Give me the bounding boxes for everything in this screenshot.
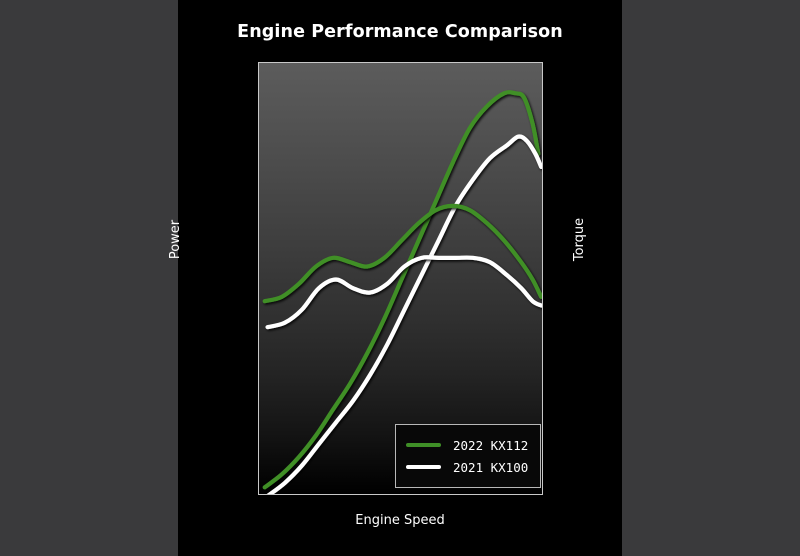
figure-panel: Engine Performance Comparison Power Torq… — [178, 0, 622, 556]
legend-swatch-green — [406, 443, 441, 447]
series-line — [265, 206, 541, 301]
y-axis-label-right: Torque — [572, 218, 587, 261]
series-line — [268, 257, 542, 327]
chart-page: Engine Performance Comparison Power Torq… — [0, 0, 800, 556]
y-axis-label-left: Power — [168, 220, 183, 259]
legend-item: 2022 KX112 — [406, 434, 530, 456]
legend-label: 2021 KX100 — [453, 460, 528, 475]
x-axis-label: Engine Speed — [178, 513, 622, 528]
legend-swatch-white — [406, 465, 441, 469]
chart-legend: 2022 KX112 2021 KX100 — [395, 424, 541, 488]
page-title: Engine Performance Comparison — [178, 22, 622, 42]
legend-item: 2021 KX100 — [406, 456, 530, 478]
legend-label: 2022 KX112 — [453, 438, 528, 453]
